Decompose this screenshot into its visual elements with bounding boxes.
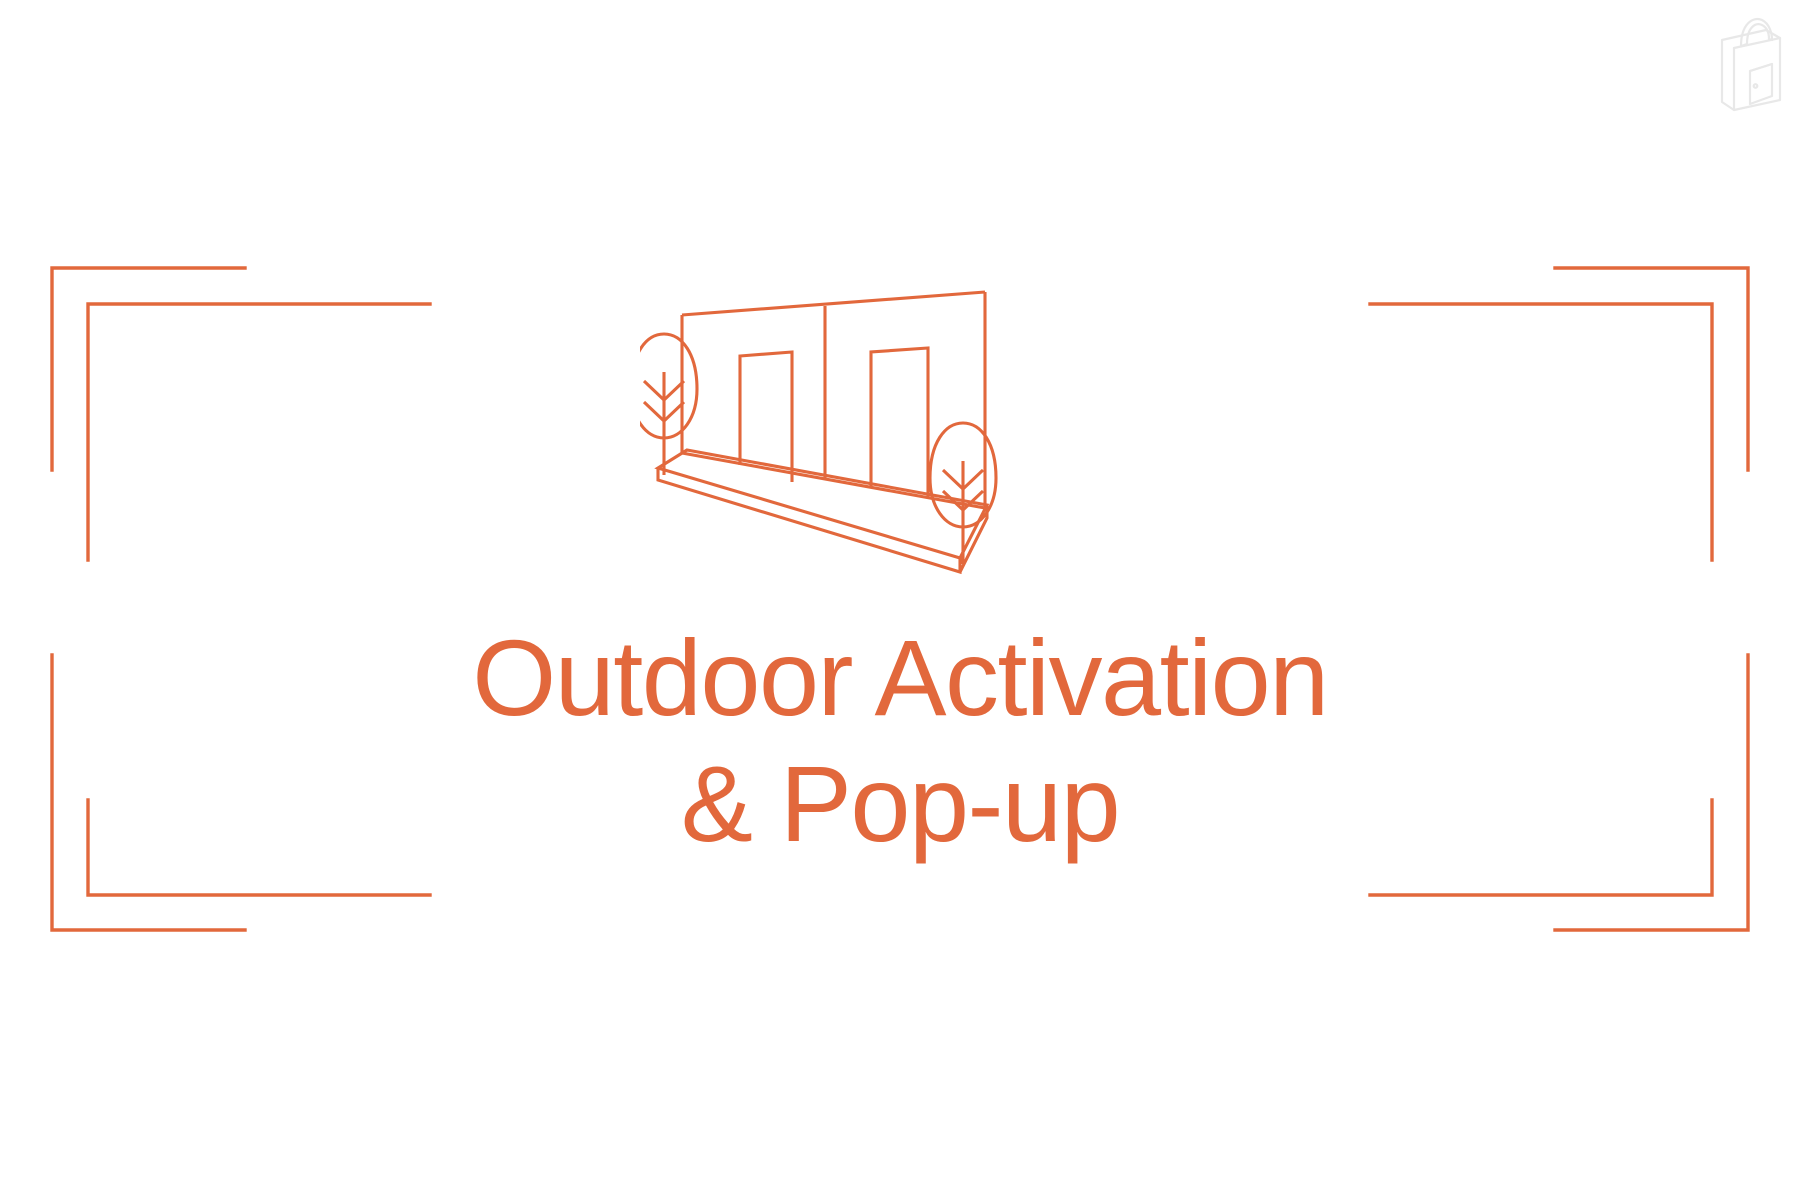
platform-front-face bbox=[658, 468, 960, 572]
shopping-bag-logo-watermark bbox=[1710, 8, 1788, 112]
tree-right-branch-upper-right bbox=[963, 470, 983, 489]
shopping-bag-with-door-icon bbox=[1710, 8, 1788, 112]
tree-left-branch-upper-left bbox=[644, 381, 664, 400]
slide-canvas: Outdoor Activation & Pop-up bbox=[0, 0, 1800, 1200]
tree-right-branch-upper-left bbox=[943, 470, 963, 489]
platform-top-face bbox=[658, 450, 987, 558]
bracket-top-right-inner bbox=[1370, 304, 1712, 560]
bracket-top-right-outer bbox=[1555, 268, 1748, 470]
facade-wall-top-edge bbox=[682, 292, 985, 315]
page-title: Outdoor Activation & Pop-up bbox=[0, 615, 1800, 868]
bracket-top-left-outer bbox=[52, 268, 245, 470]
outdoor-storefront-facade-illustration bbox=[640, 290, 1180, 620]
tree-left-branch-lower-left bbox=[644, 402, 664, 421]
page-title-line-2: & Pop-up bbox=[0, 741, 1800, 867]
page-title-line-1: Outdoor Activation bbox=[0, 615, 1800, 741]
bracket-top-left-inner bbox=[88, 304, 430, 560]
doorway-right bbox=[871, 348, 928, 497]
